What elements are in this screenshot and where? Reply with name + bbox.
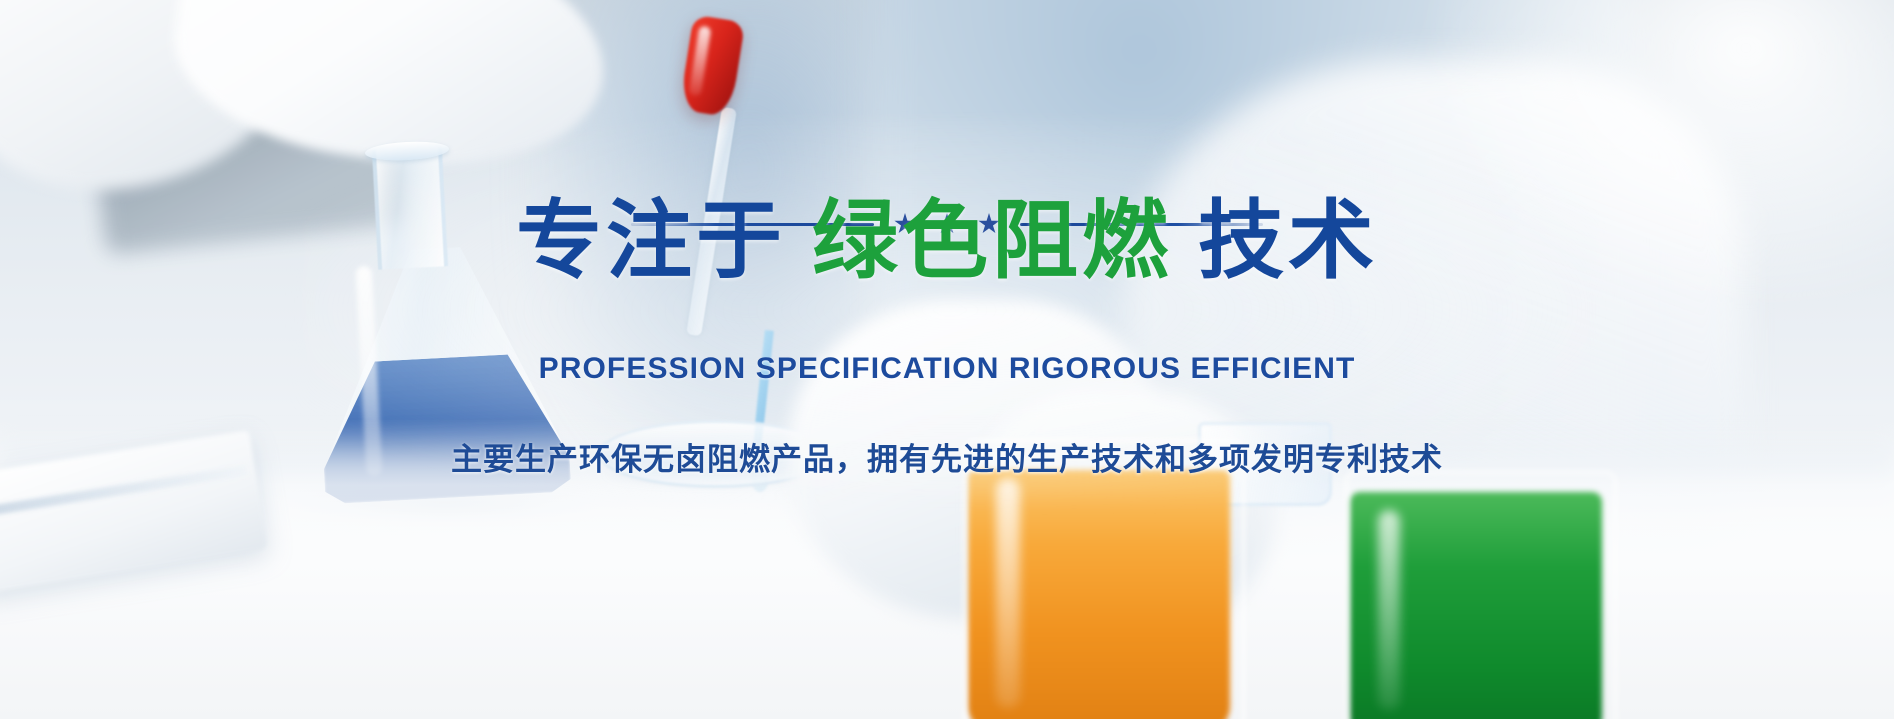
- hero-banner: 专注于绿色阻燃技术 PROFESSION SPECIFICATION RIGOR…: [0, 0, 1894, 719]
- banner-content: 专注于绿色阻燃技术 PROFESSION SPECIFICATION RIGOR…: [0, 0, 1894, 719]
- banner-subtitle-english: PROFESSION SPECIFICATION RIGOROUS EFFICI…: [539, 352, 1356, 386]
- headline-part-2: 绿色阻燃: [812, 191, 1172, 291]
- headline-part-3: 技术: [1198, 191, 1378, 291]
- banner-description-chinese: 主要生产环保无卤阻燃产品，拥有先进的生产技术和多项发明专利技术: [451, 434, 1443, 479]
- banner-headline: 专注于绿色阻燃技术: [516, 198, 1378, 284]
- headline-part-1: 专注于: [516, 191, 786, 291]
